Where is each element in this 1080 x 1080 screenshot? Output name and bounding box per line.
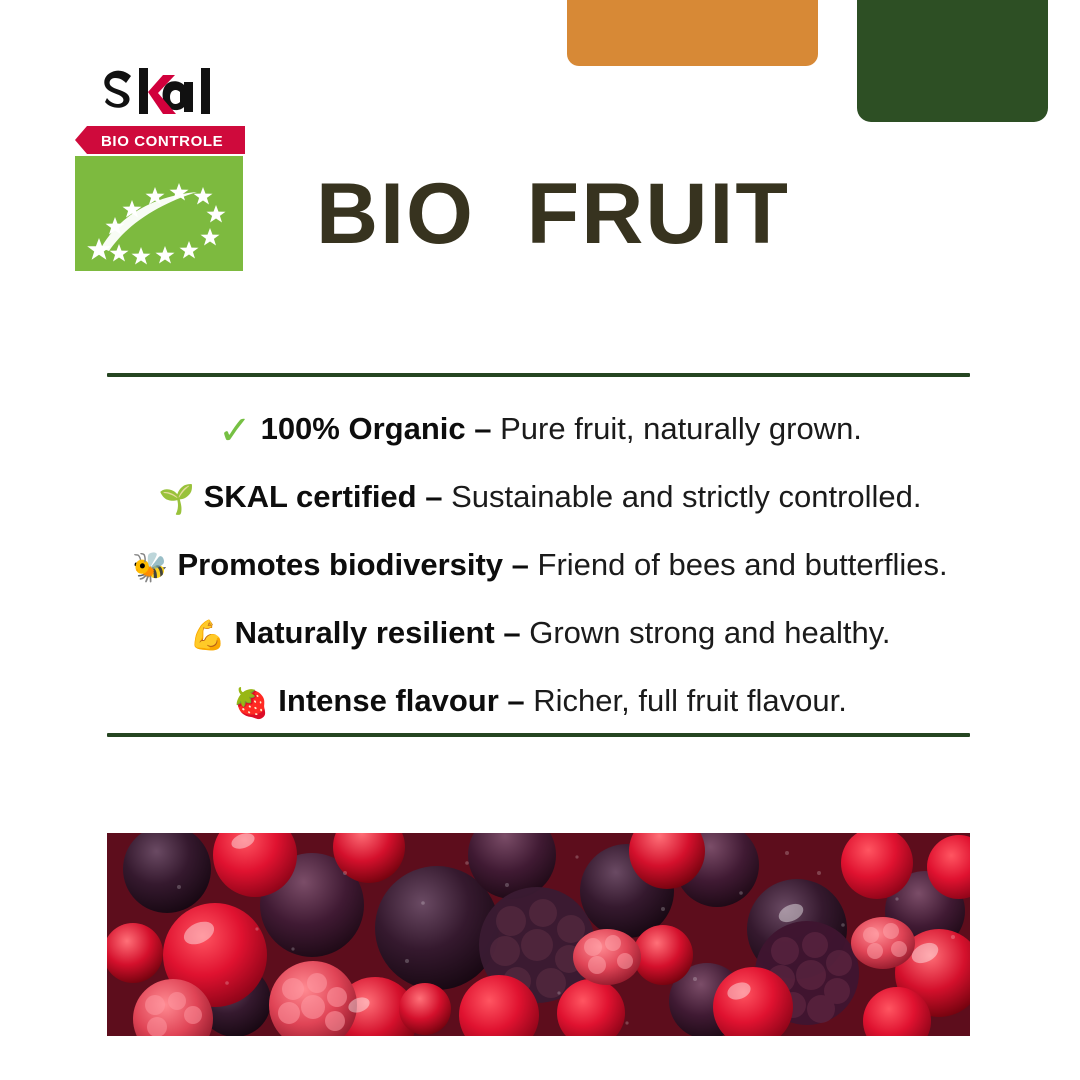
green-accent-bar	[857, 0, 1048, 122]
eu-organic-leaf-icon	[75, 156, 243, 271]
strawberry-icon: 🍓	[233, 686, 269, 720]
divider-bottom	[107, 733, 970, 737]
benefit-description: Richer, full fruit flavour.	[533, 683, 847, 718]
benefit-lead: Naturally resilient	[235, 615, 495, 650]
list-item: 💪Naturally resilient – Grown strong and …	[0, 600, 1080, 668]
benefit-dash: –	[499, 683, 533, 718]
benefit-dash: –	[466, 411, 500, 446]
page-title: BIO FRUIT	[316, 168, 790, 260]
svg-text:BIO CONTROLE: BIO CONTROLE	[101, 133, 223, 150]
skal-logo: BIO CONTROLE	[75, 66, 321, 271]
flexed-biceps-icon: 💪	[189, 618, 225, 652]
benefit-dash: –	[503, 547, 537, 582]
benefit-lead: 100% Organic	[261, 411, 466, 446]
skal-wordmark	[101, 66, 321, 118]
poster-canvas: BIO CONTROLE	[0, 0, 1080, 1080]
benefit-description: Pure fruit, naturally grown.	[500, 411, 862, 446]
bee-icon: 🐝	[132, 550, 168, 584]
benefit-lead: SKAL certified	[204, 479, 417, 514]
check-mark-icon: ✓	[218, 408, 252, 454]
berry-photo	[107, 833, 970, 1036]
benefit-lead: Promotes biodiversity	[177, 547, 503, 582]
bio-controle-banner: BIO CONTROLE	[75, 126, 245, 154]
benefit-description: Grown strong and healthy.	[529, 615, 890, 650]
benefit-dash: –	[495, 615, 529, 650]
list-item: ✓100% Organic – Pure fruit, naturally gr…	[0, 396, 1080, 464]
divider-top	[107, 373, 970, 377]
benefits-list: ✓100% Organic – Pure fruit, naturally gr…	[0, 396, 1080, 736]
benefit-lead: Intense flavour	[278, 683, 499, 718]
seedling-icon: 🌱	[158, 482, 194, 516]
list-item: 🍓Intense flavour – Richer, full fruit fl…	[0, 668, 1080, 736]
orange-accent-bar	[567, 0, 818, 66]
benefit-description: Sustainable and strictly controlled.	[451, 479, 921, 514]
benefit-dash: –	[417, 479, 451, 514]
list-item: 🐝Promotes biodiversity – Friend of bees …	[0, 532, 1080, 600]
benefit-description: Friend of bees and butterflies.	[538, 547, 948, 582]
list-item: 🌱SKAL certified – Sustainable and strict…	[0, 464, 1080, 532]
